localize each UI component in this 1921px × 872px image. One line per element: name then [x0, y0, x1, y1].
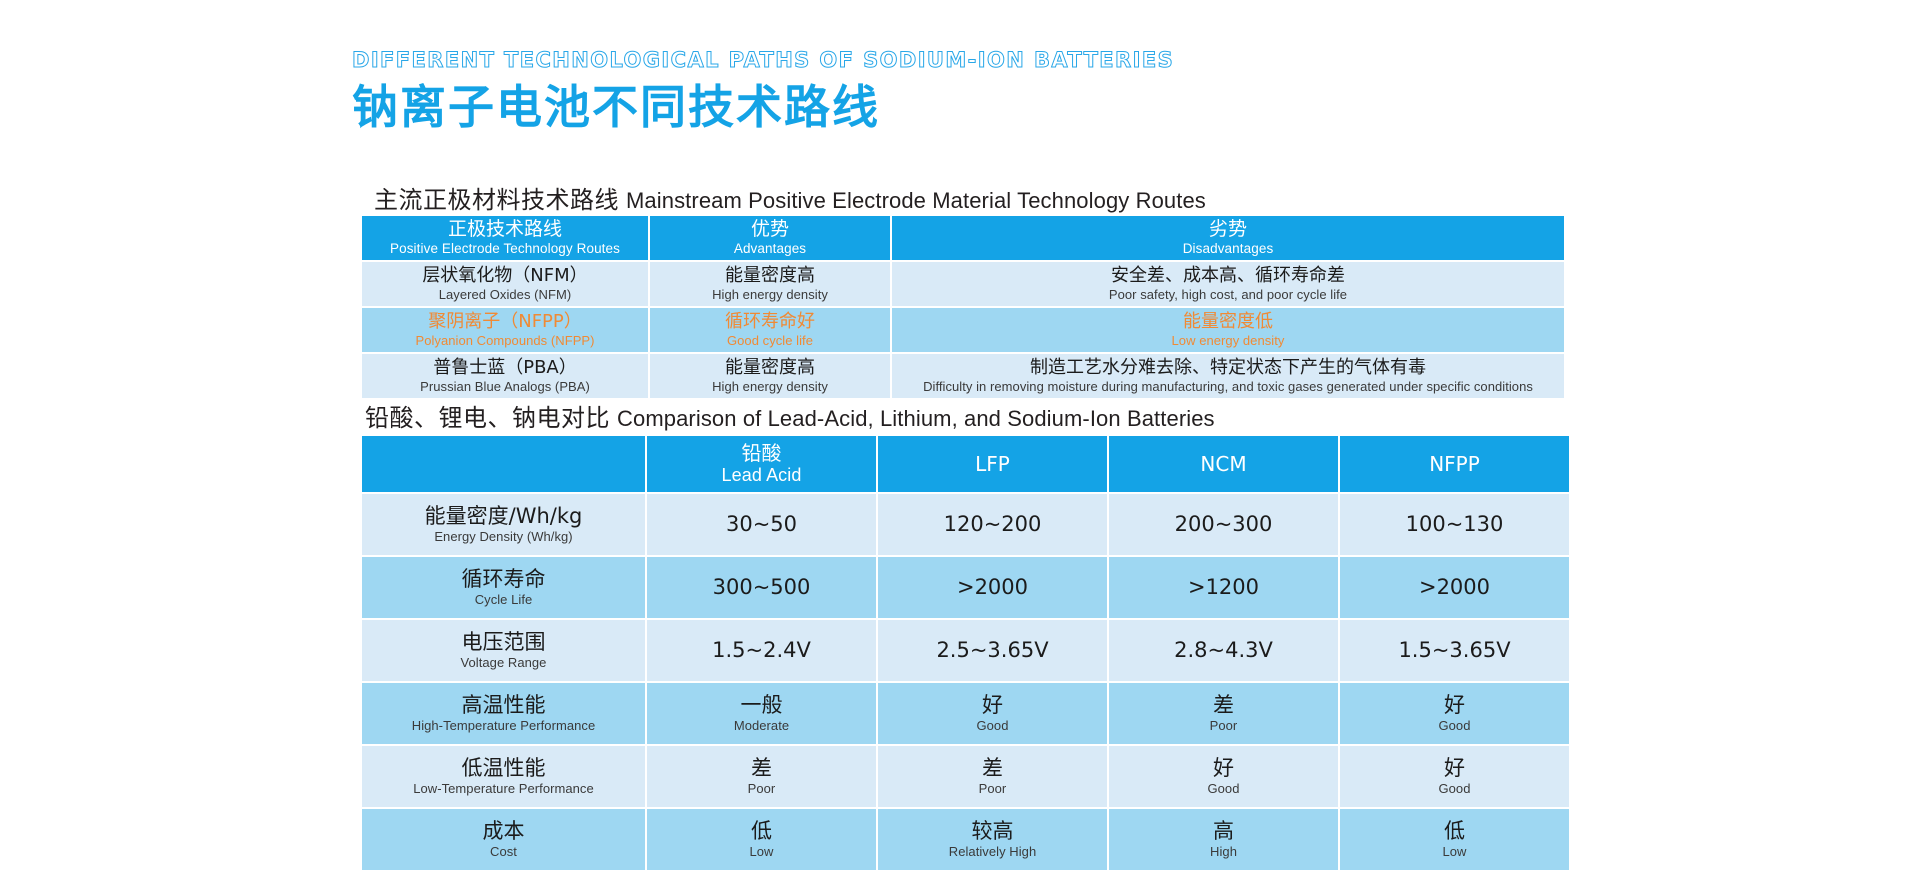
cell-text-en: Prussian Blue Analogs (PBA) — [362, 379, 648, 395]
header-nfpp-zh: NFPP — [1340, 453, 1569, 476]
cell-route-nfpp: 聚阴离子（NFPP） Polyanion Compounds (NFPP) — [362, 308, 648, 352]
cell-disadvantage-nfm: 安全差、成本高、循环寿命差 Poor safety, high cost, an… — [892, 262, 1564, 306]
eyebrow-title: DIFFERENT TECHNOLOGICAL PATHS OF SODIUM-… — [352, 48, 1652, 73]
cell-text-en: Polyanion Compounds (NFPP) — [362, 333, 648, 349]
section-1-heading: 主流正极材料技术路线Mainstream Positive Electrode … — [374, 180, 1206, 215]
table-header-row: 铅酸 Lead Acid LFP NCM NFPP — [362, 436, 1569, 492]
cell-low-temp-lead-acid: 差 Poor — [647, 746, 876, 807]
header-cell-advantages: 优势 Advantages — [650, 216, 890, 260]
cell-value-zh: 差 — [1109, 693, 1338, 718]
table-row: 成本 Cost 低 Low 较高 Relatively High 高 High … — [362, 809, 1569, 870]
header-route-zh: 正极技术路线 — [362, 219, 648, 241]
cell-cost-nfpp: 低 Low — [1340, 809, 1569, 870]
section-1-heading-zh: 主流正极材料技术路线 — [374, 186, 619, 214]
row-label-zh: 成本 — [362, 819, 645, 844]
cell-text-en: Good cycle life — [650, 333, 890, 349]
cell-text-zh: 层状氧化物（NFM） — [362, 265, 648, 287]
header-cell-lead-acid: 铅酸 Lead Acid — [647, 436, 876, 492]
cell-text-zh: 能量密度高 — [650, 265, 890, 287]
cell-energy-density-ncm: 200~300 — [1109, 494, 1338, 555]
cell-high-temp-ncm: 差 Poor — [1109, 683, 1338, 744]
cell-high-temp-lead-acid: 一般 Moderate — [647, 683, 876, 744]
cell-text-en: Poor safety, high cost, and poor cycle l… — [892, 287, 1564, 303]
table-row: 高温性能 High-Temperature Performance 一般 Mod… — [362, 683, 1569, 744]
section-2-heading-en: Comparison of Lead-Acid, Lithium, and So… — [617, 406, 1215, 431]
cell-value: 30~50 — [647, 512, 876, 537]
row-label-low-temp: 低温性能 Low-Temperature Performance — [362, 746, 645, 807]
section-1-heading-en: Mainstream Positive Electrode Material T… — [626, 188, 1206, 213]
cell-cycle-life-nfpp: >2000 — [1340, 557, 1569, 618]
cell-value-en: Poor — [878, 781, 1107, 797]
cell-text-zh: 制造工艺水分难去除、特定状态下产生的气体有毒 — [892, 357, 1564, 379]
cell-cost-lead-acid: 低 Low — [647, 809, 876, 870]
cell-value-zh: 较高 — [878, 819, 1107, 844]
row-label-en: Energy Density (Wh/kg) — [362, 529, 645, 545]
cell-value-en: Good — [1109, 781, 1338, 797]
cell-value-zh: 好 — [1109, 756, 1338, 781]
table-row: 普鲁士蓝（PBA） Prussian Blue Analogs (PBA) 能量… — [362, 354, 1564, 398]
cell-disadvantage-pba: 制造工艺水分难去除、特定状态下产生的气体有毒 Difficulty in rem… — [892, 354, 1564, 398]
section-2-heading: 铅酸、锂电、钠电对比Comparison of Lead-Acid, Lithi… — [365, 398, 1215, 433]
cell-voltage-range-lfp: 2.5~3.65V — [878, 620, 1107, 681]
cell-value: 1.5~2.4V — [647, 638, 876, 663]
table-header-row: 正极技术路线 Positive Electrode Technology Rou… — [362, 216, 1564, 260]
battery-comparison-table: 铅酸 Lead Acid LFP NCM NFPP 能量密度/Wh/kg Ene… — [360, 434, 1571, 872]
row-label-zh: 循环寿命 — [362, 567, 645, 592]
cell-low-temp-nfpp: 好 Good — [1340, 746, 1569, 807]
header-advantages-zh: 优势 — [650, 219, 890, 241]
row-label-zh: 能量密度/Wh/kg — [362, 504, 645, 529]
cell-text-zh: 安全差、成本高、循环寿命差 — [892, 265, 1564, 287]
header-lfp-zh: LFP — [878, 453, 1107, 476]
cell-value-zh: 低 — [1340, 819, 1569, 844]
table-row: 循环寿命 Cycle Life 300~500 >2000 >1200 >200… — [362, 557, 1569, 618]
cell-value-en: Poor — [647, 781, 876, 797]
header-disadvantages-zh: 劣势 — [892, 219, 1564, 241]
row-label-en: Cost — [362, 844, 645, 860]
cell-value-en: Poor — [1109, 718, 1338, 734]
cell-text-zh: 循环寿命好 — [650, 311, 890, 333]
cell-voltage-range-lead-acid: 1.5~2.4V — [647, 620, 876, 681]
cell-value-en: Good — [878, 718, 1107, 734]
cell-cost-lfp: 较高 Relatively High — [878, 809, 1107, 870]
cell-value-en: High — [1109, 844, 1338, 860]
section-2-heading-zh: 铅酸、锂电、钠电对比 — [365, 404, 610, 432]
header-route-en: Positive Electrode Technology Routes — [362, 241, 648, 257]
cell-value-en: Good — [1340, 781, 1569, 797]
cell-text-zh: 聚阴离子（NFPP） — [362, 311, 648, 333]
cell-energy-density-lead-acid: 30~50 — [647, 494, 876, 555]
header-cell-nfpp: NFPP — [1340, 436, 1569, 492]
header-cell-ncm: NCM — [1109, 436, 1338, 492]
table-row: 电压范围 Voltage Range 1.5~2.4V 2.5~3.65V 2.… — [362, 620, 1569, 681]
cell-text-en: Difficulty in removing moisture during m… — [892, 379, 1564, 395]
cell-cycle-life-lead-acid: 300~500 — [647, 557, 876, 618]
row-label-energy-density: 能量密度/Wh/kg Energy Density (Wh/kg) — [362, 494, 645, 555]
cell-value: >2000 — [1340, 575, 1569, 600]
cell-value-zh: 差 — [878, 756, 1107, 781]
header-advantages-en: Advantages — [650, 241, 890, 257]
cell-low-temp-ncm: 好 Good — [1109, 746, 1338, 807]
cell-value-zh: 好 — [878, 693, 1107, 718]
cell-text-en: Layered Oxides (NFM) — [362, 287, 648, 303]
cell-high-temp-lfp: 好 Good — [878, 683, 1107, 744]
row-label-voltage-range: 电压范围 Voltage Range — [362, 620, 645, 681]
row-label-high-temp: 高温性能 High-Temperature Performance — [362, 683, 645, 744]
cell-value-en: Good — [1340, 718, 1569, 734]
header-ncm-zh: NCM — [1109, 453, 1338, 476]
cell-text-en: High energy density — [650, 287, 890, 303]
cell-value: 300~500 — [647, 575, 876, 600]
page-title: 钠离子电池不同技术路线 — [352, 82, 1652, 134]
cell-voltage-range-ncm: 2.8~4.3V — [1109, 620, 1338, 681]
cell-value: 2.8~4.3V — [1109, 638, 1338, 663]
cell-text-zh: 能量密度高 — [650, 357, 890, 379]
cell-route-pba: 普鲁士蓝（PBA） Prussian Blue Analogs (PBA) — [362, 354, 648, 398]
header-cell-blank — [362, 436, 645, 492]
cell-text-en: High energy density — [650, 379, 890, 395]
cell-advantage-nfm: 能量密度高 High energy density — [650, 262, 890, 306]
table-row: 低温性能 Low-Temperature Performance 差 Poor … — [362, 746, 1569, 807]
cell-value-zh: 一般 — [647, 693, 876, 718]
cell-cycle-life-ncm: >1200 — [1109, 557, 1338, 618]
cell-advantage-nfpp: 循环寿命好 Good cycle life — [650, 308, 890, 352]
cell-disadvantage-nfpp: 能量密度低 Low energy density — [892, 308, 1564, 352]
cell-value-en: Low — [647, 844, 876, 860]
cell-value-en: Low — [1340, 844, 1569, 860]
cell-cost-ncm: 高 High — [1109, 809, 1338, 870]
cell-value-zh: 好 — [1340, 693, 1569, 718]
cell-value: 200~300 — [1109, 512, 1338, 537]
cell-value: 1.5~3.65V — [1340, 638, 1569, 663]
cell-value: 120~200 — [878, 512, 1107, 537]
row-label-en: High-Temperature Performance — [362, 718, 645, 734]
row-label-zh: 低温性能 — [362, 756, 645, 781]
cell-voltage-range-nfpp: 1.5~3.65V — [1340, 620, 1569, 681]
cell-text-en: Low energy density — [892, 333, 1564, 349]
title-block: DIFFERENT TECHNOLOGICAL PATHS OF SODIUM-… — [352, 48, 1652, 134]
header-cell-lfp: LFP — [878, 436, 1107, 492]
cell-route-nfm: 层状氧化物（NFM） Layered Oxides (NFM) — [362, 262, 648, 306]
header-lead-acid-zh: 铅酸 — [647, 442, 876, 465]
cell-low-temp-lfp: 差 Poor — [878, 746, 1107, 807]
table-row: 能量密度/Wh/kg Energy Density (Wh/kg) 30~50 … — [362, 494, 1569, 555]
cell-value-zh: 低 — [647, 819, 876, 844]
cell-value-zh: 差 — [647, 756, 876, 781]
cell-value: 2.5~3.65V — [878, 638, 1107, 663]
row-label-en: Low-Temperature Performance — [362, 781, 645, 797]
cell-energy-density-nfpp: 100~130 — [1340, 494, 1569, 555]
cell-text-zh: 普鲁士蓝（PBA） — [362, 357, 648, 379]
cell-value: >2000 — [878, 575, 1107, 600]
header-disadvantages-en: Disadvantages — [892, 241, 1564, 257]
cell-value: 100~130 — [1340, 512, 1569, 537]
row-label-cycle-life: 循环寿命 Cycle Life — [362, 557, 645, 618]
header-cell-disadvantages: 劣势 Disadvantages — [892, 216, 1564, 260]
table-row-highlighted: 聚阴离子（NFPP） Polyanion Compounds (NFPP) 循环… — [362, 308, 1564, 352]
cell-value-zh: 好 — [1340, 756, 1569, 781]
row-label-cost: 成本 Cost — [362, 809, 645, 870]
row-label-zh: 电压范围 — [362, 630, 645, 655]
cell-energy-density-lfp: 120~200 — [878, 494, 1107, 555]
cell-text-zh: 能量密度低 — [892, 311, 1564, 333]
cell-cycle-life-lfp: >2000 — [878, 557, 1107, 618]
cell-high-temp-nfpp: 好 Good — [1340, 683, 1569, 744]
table-row: 层状氧化物（NFM） Layered Oxides (NFM) 能量密度高 Hi… — [362, 262, 1564, 306]
header-lead-acid-en: Lead Acid — [647, 465, 876, 487]
header-cell-route: 正极技术路线 Positive Electrode Technology Rou… — [362, 216, 648, 260]
cell-value: >1200 — [1109, 575, 1338, 600]
positive-electrode-routes-table: 正极技术路线 Positive Electrode Technology Rou… — [360, 214, 1566, 400]
row-label-zh: 高温性能 — [362, 693, 645, 718]
row-label-en: Cycle Life — [362, 592, 645, 608]
cell-value-en: Moderate — [647, 718, 876, 734]
cell-value-en: Relatively High — [878, 844, 1107, 860]
cell-advantage-pba: 能量密度高 High energy density — [650, 354, 890, 398]
row-label-en: Voltage Range — [362, 655, 645, 671]
cell-value-zh: 高 — [1109, 819, 1338, 844]
